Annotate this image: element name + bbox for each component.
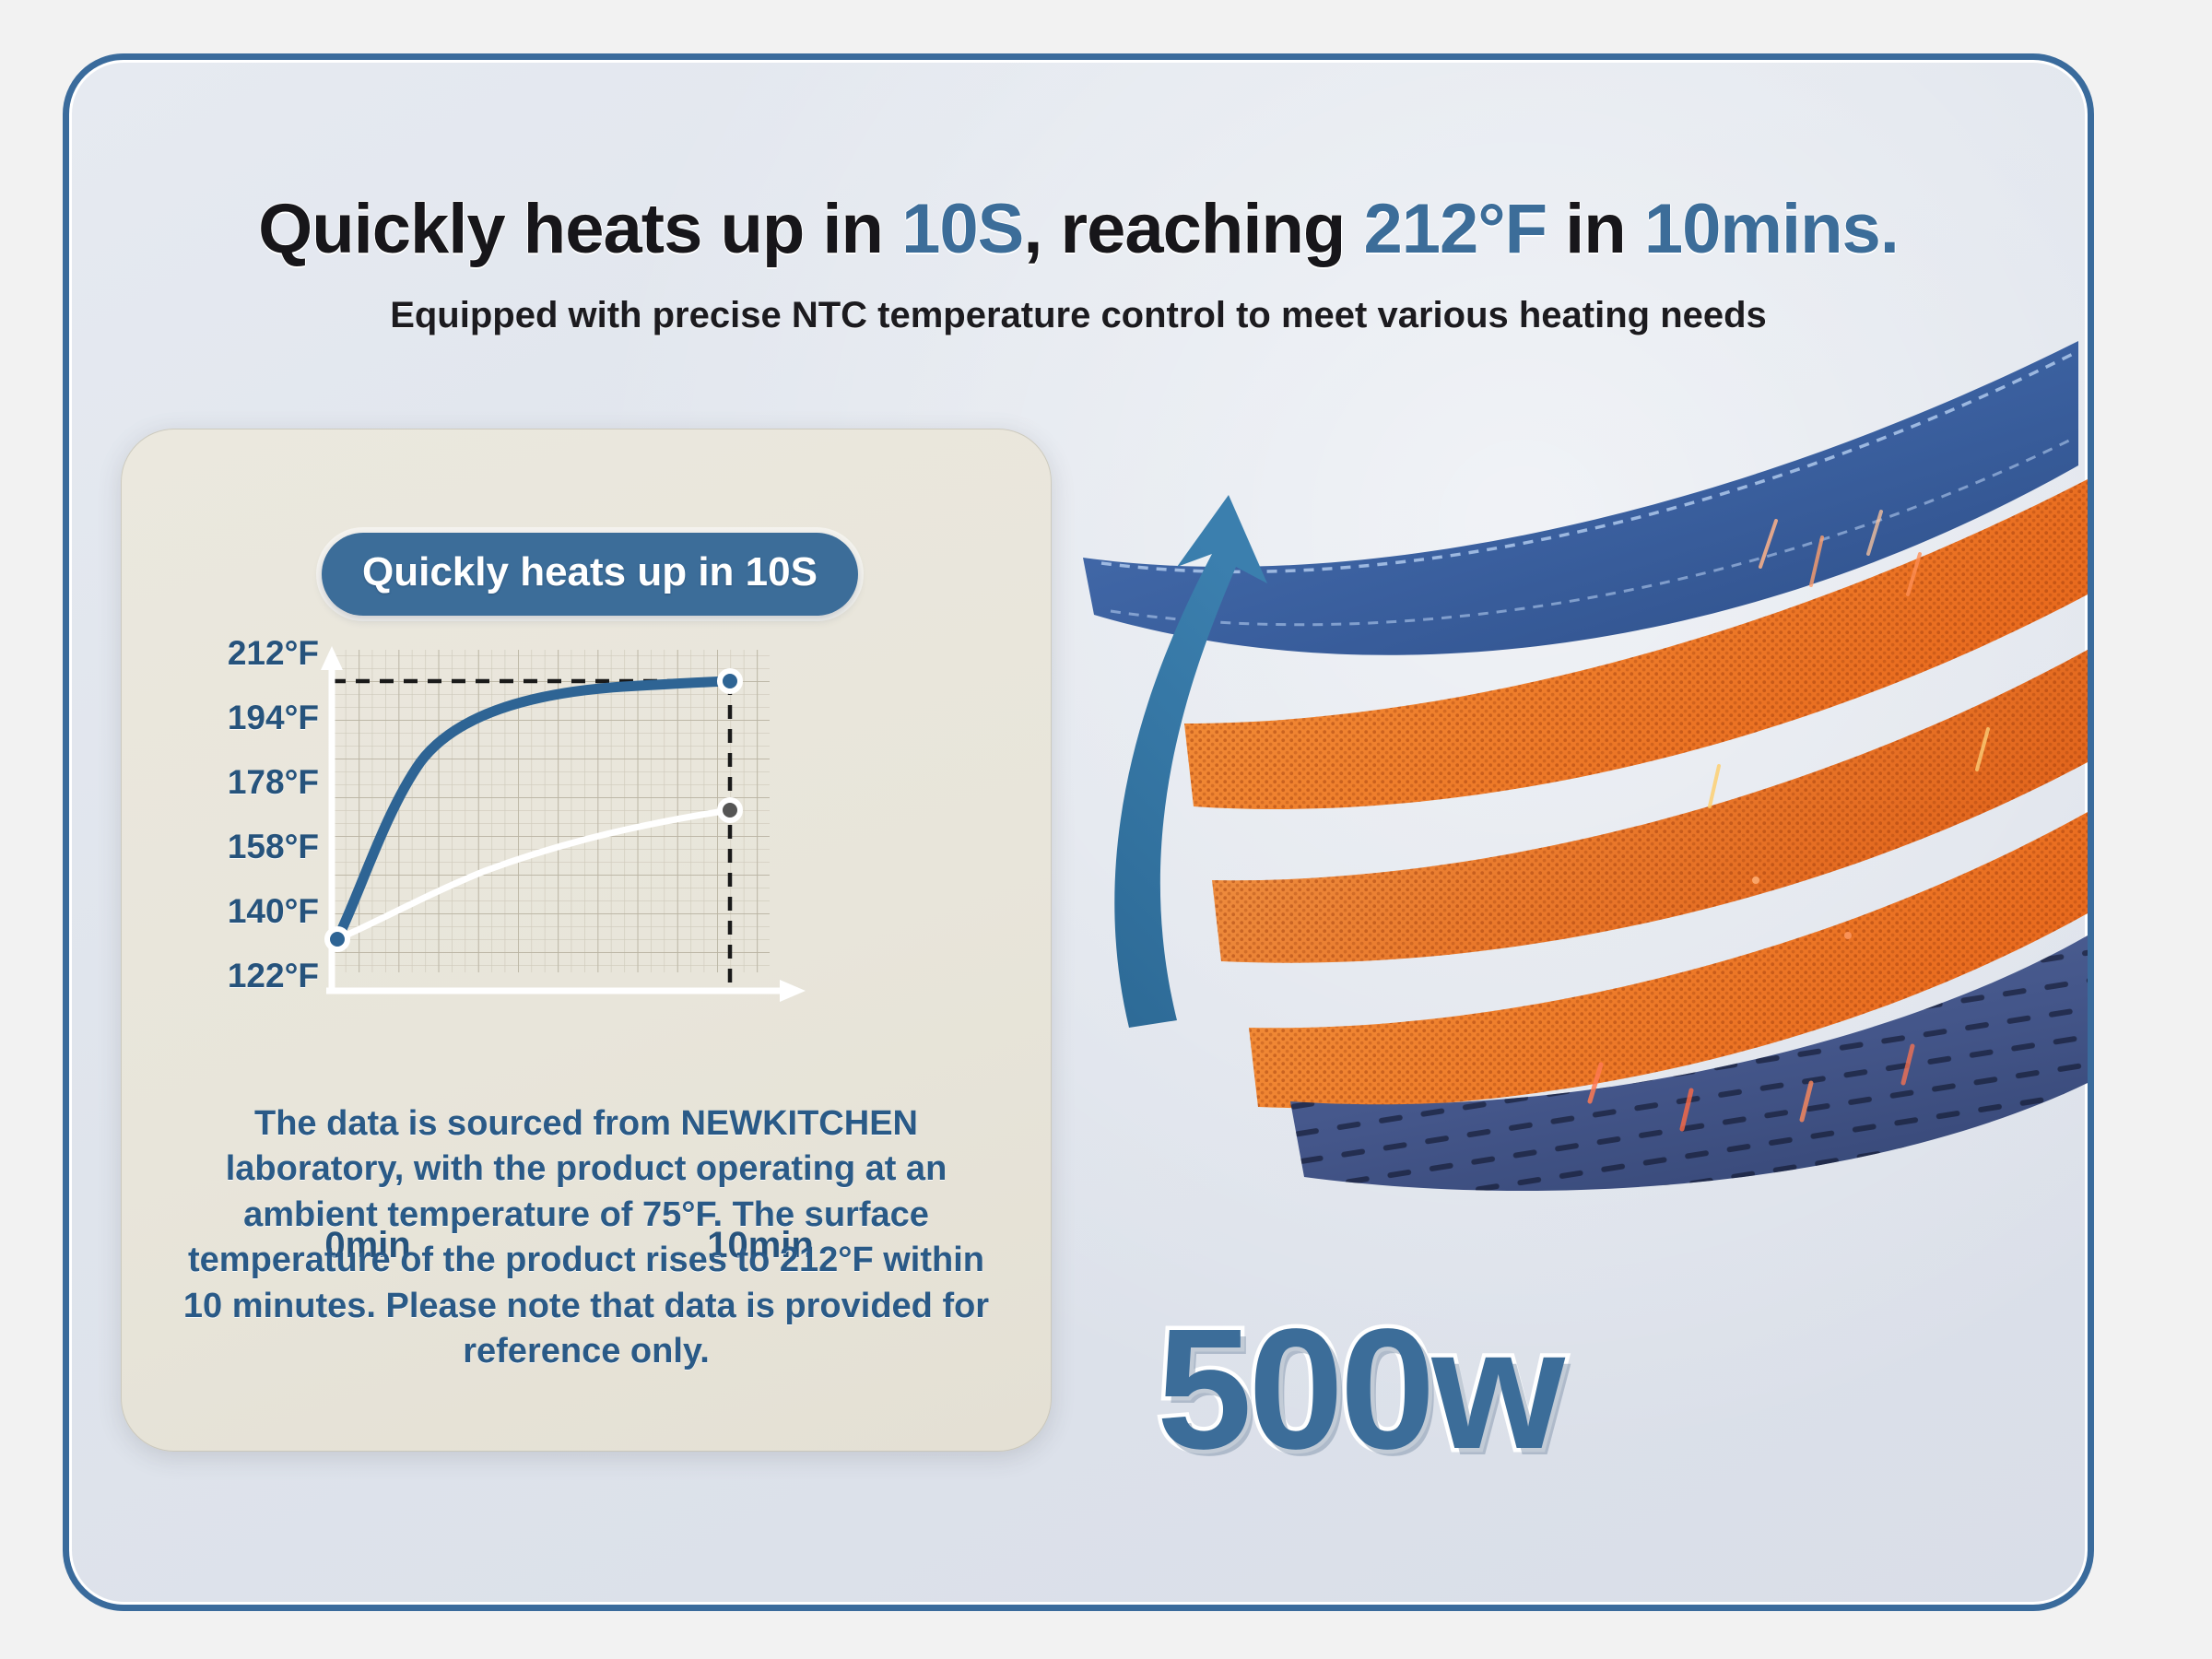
headline-part-1: Quickly heats up in (258, 190, 901, 268)
y-tick-212: 212°F (228, 634, 319, 673)
y-axis-labels: 212°F 194°F 178°F 158°F 140°F 122°F (121, 642, 319, 1011)
temperature-chart: 212°F 194°F 178°F 158°F 140°F 122°F (121, 642, 1052, 1011)
plot-area (319, 642, 835, 1030)
y-tick-158: 158°F (228, 828, 319, 866)
chart-caption: The data is sourced from NEWKITCHEN labo… (169, 1101, 1004, 1374)
chart-svg (319, 642, 835, 1030)
datapoint-end-comparison (720, 800, 740, 820)
headline-accent-212f: 212°F (1363, 190, 1547, 268)
wattage-label: 500w (1157, 1304, 1561, 1476)
headline-accent-10mins: 10mins. (1644, 190, 1899, 268)
headline-accent-10s: 10S (901, 190, 1023, 268)
y-tick-194: 194°F (228, 699, 319, 737)
infographic-stage: Quickly heats up in 10S, reaching 212°F … (0, 0, 2212, 1659)
product-illustration (1074, 290, 2088, 1212)
y-tick-178: 178°F (228, 763, 319, 802)
chart-badge: Quickly heats up in 10S (322, 533, 858, 616)
y-tick-140: 140°F (228, 892, 319, 931)
product-svg (1074, 290, 2088, 1212)
y-tick-122: 122°F (228, 957, 319, 995)
datapoint-end-212f (720, 671, 740, 691)
x-axis-arrow (780, 980, 806, 1002)
page-title: Quickly heats up in 10S, reaching 212°F … (69, 189, 2088, 269)
headline-part-3: in (1547, 190, 1644, 268)
headline-part-2: , reaching (1023, 190, 1363, 268)
chart-card: Quickly heats up in 10S 212°F 194°F 178°… (121, 429, 1052, 1452)
main-panel: Quickly heats up in 10S, reaching 212°F … (63, 53, 2094, 1611)
datapoint-start-122f (327, 929, 347, 949)
